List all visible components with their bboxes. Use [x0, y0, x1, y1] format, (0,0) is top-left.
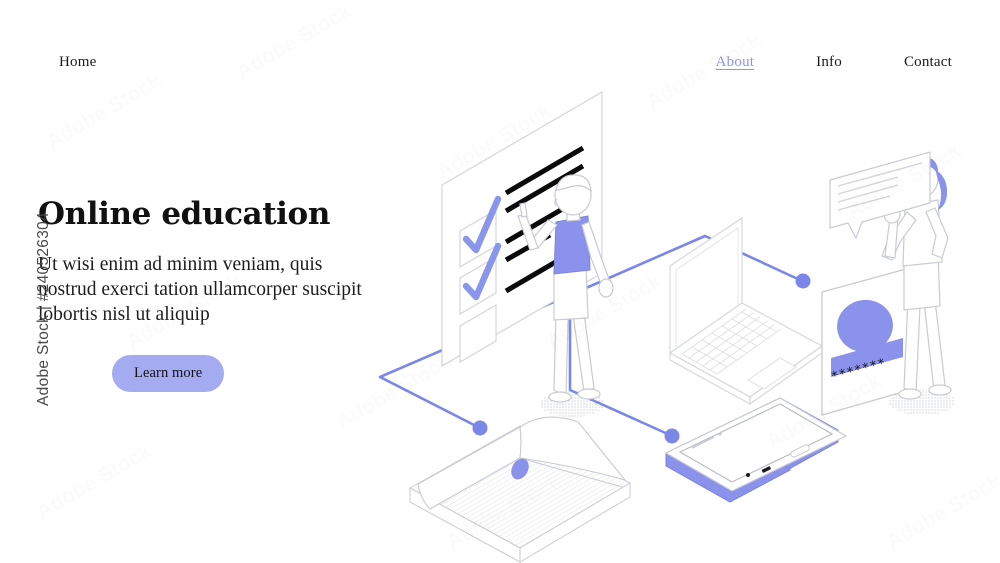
page-title: Online education — [38, 196, 398, 232]
nav-left-group: Home — [59, 52, 96, 72]
person-foot-right — [578, 389, 600, 399]
landing-page: Home About Info Contact Online education… — [0, 0, 1000, 563]
laptop — [670, 218, 822, 404]
phone-camera-icon — [718, 432, 721, 435]
hero-description: Ut wisi enim ad minim veniam, quis nostr… — [38, 252, 382, 327]
person-leg-right — [573, 313, 594, 392]
nav-link-about[interactable]: About — [716, 52, 755, 72]
connector-dot-phone — [665, 429, 680, 444]
person-leg-left — [554, 310, 568, 396]
person-foot-left — [549, 392, 571, 402]
watermark-tile: Adobe Stock — [33, 440, 156, 525]
hero-section: Online education Ut wisi enim ad minim v… — [38, 196, 398, 392]
open-book — [410, 417, 630, 562]
connector-dot-laptop — [796, 274, 811, 289]
woman-leg-right — [924, 300, 945, 390]
nav-link-contact[interactable]: Contact — [904, 52, 952, 72]
connector-dot-book — [473, 421, 488, 436]
woman-foot-left — [899, 389, 921, 399]
hero-illustration: ******* — [370, 70, 1000, 563]
cta-wrapper: Learn more — [112, 355, 398, 392]
person-hand-right — [599, 279, 613, 297]
smartphone — [666, 398, 846, 502]
learn-more-button[interactable]: Learn more — [112, 355, 224, 392]
phone-port-icon — [746, 473, 750, 477]
nav-link-info[interactable]: Info — [816, 52, 842, 72]
woman-foot-right — [929, 385, 951, 395]
nav-link-home[interactable]: Home — [59, 52, 96, 72]
login-card: ******* — [822, 268, 910, 415]
watermark-tile: Adobe Stock — [43, 70, 166, 155]
nav-right-group: About Info Contact — [716, 52, 952, 72]
